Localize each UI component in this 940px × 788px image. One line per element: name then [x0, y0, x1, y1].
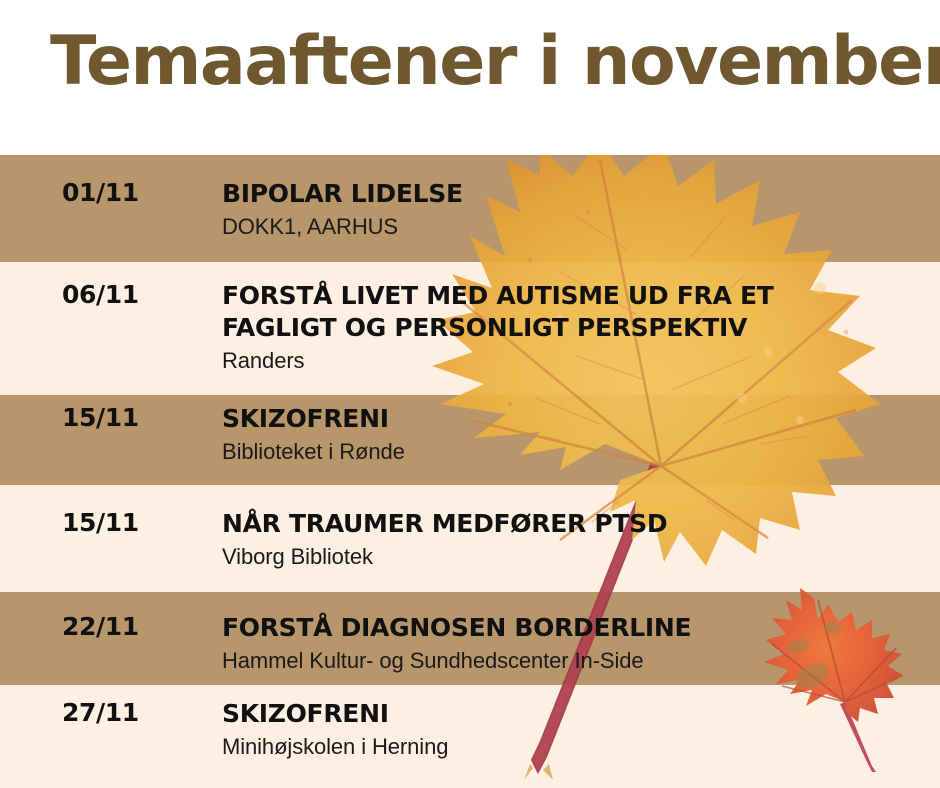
poster-canvas: Temaaftener i november 01/11 BIPOLAR LID…: [0, 0, 940, 788]
event-title: BIPOLAR LIDELSE: [222, 178, 940, 210]
event-title: SKIZOFRENI: [222, 403, 940, 435]
event-row-1: 01/11 BIPOLAR LIDELSE DOKK1, AARHUS: [0, 178, 940, 242]
event-title: FORSTÅ DIAGNOSEN BORDERLINE: [222, 612, 940, 644]
event-title: SKIZOFRENI: [222, 698, 940, 730]
event-venue: Minihøjskolen i Herning: [222, 733, 940, 762]
event-body: NÅR TRAUMER MEDFØRER PTSD Viborg Bibliot…: [160, 508, 940, 572]
event-date: 27/11: [0, 698, 160, 727]
event-body: FORSTÅ LIVET MED AUTISME UD FRA ET FAGLI…: [160, 280, 940, 376]
event-row-6: 27/11 SKIZOFRENI Minihøjskolen i Herning: [0, 698, 940, 762]
event-date: 22/11: [0, 612, 160, 641]
event-date: 15/11: [0, 403, 160, 432]
event-venue: Biblioteket i Rønde: [222, 438, 940, 467]
event-title: NÅR TRAUMER MEDFØRER PTSD: [222, 508, 940, 540]
event-date: 06/11: [0, 280, 160, 309]
event-row-2: 06/11 FORSTÅ LIVET MED AUTISME UD FRA ET…: [0, 280, 940, 376]
event-venue: Viborg Bibliotek: [222, 543, 940, 572]
event-row-4: 15/11 NÅR TRAUMER MEDFØRER PTSD Viborg B…: [0, 508, 940, 572]
event-body: BIPOLAR LIDELSE DOKK1, AARHUS: [160, 178, 940, 242]
event-body: FORSTÅ DIAGNOSEN BORDERLINE Hammel Kultu…: [160, 612, 940, 676]
event-title: FORSTÅ LIVET MED AUTISME UD FRA ET FAGLI…: [222, 280, 940, 344]
event-row-3: 15/11 SKIZOFRENI Biblioteket i Rønde: [0, 403, 940, 467]
page-title: Temaaftener i november: [50, 26, 940, 97]
event-date: 15/11: [0, 508, 160, 537]
event-body: SKIZOFRENI Minihøjskolen i Herning: [160, 698, 940, 762]
title-area: Temaaftener i november: [0, 0, 940, 155]
event-venue: Hammel Kultur- og Sundhedscenter In-Side: [222, 647, 940, 676]
event-venue: DOKK1, AARHUS: [222, 213, 940, 242]
event-date: 01/11: [0, 178, 160, 207]
event-body: SKIZOFRENI Biblioteket i Rønde: [160, 403, 940, 467]
event-row-5: 22/11 FORSTÅ DIAGNOSEN BORDERLINE Hammel…: [0, 612, 940, 676]
event-venue: Randers: [222, 347, 940, 376]
